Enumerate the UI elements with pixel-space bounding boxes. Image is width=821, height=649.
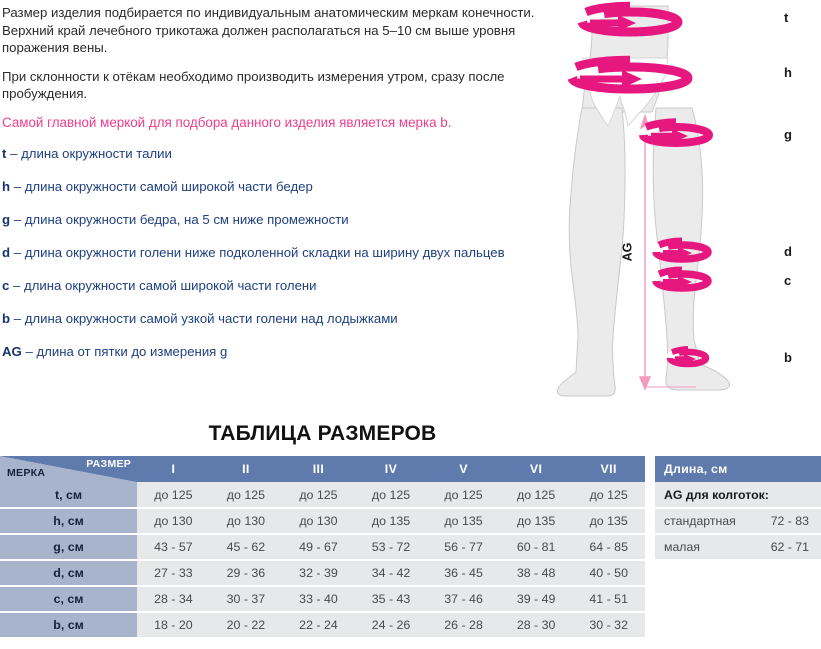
cell-c-3: 33 - 40: [282, 586, 355, 612]
length-table-header: Длина, см: [655, 456, 821, 482]
cell-t-4: до 125: [355, 482, 428, 508]
legend-text-c: – длина окружности самой широкой части г…: [13, 278, 317, 293]
cell-t-2: до 125: [210, 482, 283, 508]
cell-b-2: 20 - 22: [210, 612, 283, 638]
legend-key-b: b: [2, 311, 10, 326]
legend-item-b: b – длина окружности самой узкой части г…: [2, 310, 600, 327]
legend-key-h: h: [2, 179, 10, 194]
cell-h-1: до 130: [137, 508, 210, 534]
diagram-label-h: h: [784, 65, 792, 80]
cell-t-3: до 125: [282, 482, 355, 508]
legend-key-g: g: [2, 212, 10, 227]
legend-item-g: g – длина окружности бедра, на 5 см ниже…: [2, 211, 600, 228]
cell-c-2: 30 - 37: [210, 586, 283, 612]
diagram-label-d: d: [784, 244, 792, 259]
cell-t-7: до 125: [572, 482, 645, 508]
cell-d-1: 27 - 33: [137, 560, 210, 586]
size-table-header-row: РАЗМЕР МЕРКА I II III IV V VI VII: [0, 456, 645, 482]
row-label-h: h, см: [0, 508, 137, 534]
length-table-header-row: Длина, см: [655, 456, 821, 482]
cell-b-3: 22 - 24: [282, 612, 355, 638]
row-label-d: d, см: [0, 560, 137, 586]
cell-t-5: до 125: [427, 482, 500, 508]
legend-key-t: t: [2, 146, 6, 161]
cell-t-1: до 125: [137, 482, 210, 508]
legend-item-c: c – длина окружности самой широкой части…: [2, 277, 600, 294]
cell-c-5: 37 - 46: [427, 586, 500, 612]
cell-c-1: 28 - 34: [137, 586, 210, 612]
cell-c-7: 41 - 51: [572, 586, 645, 612]
row-label-t: t, см: [0, 482, 137, 508]
legend-text-t: – длина окружности талии: [10, 146, 172, 161]
measure-ring-b: [670, 349, 706, 364]
measure-ring-g: [643, 122, 709, 143]
table-row: малая 62 - 71: [655, 534, 821, 560]
length-value-standard: 72 - 83: [760, 508, 821, 534]
size-column-header-3: III: [282, 456, 355, 482]
cell-b-6: 28 - 30: [500, 612, 573, 638]
key-measurement-note: Самой главной меркой для подбора данного…: [2, 114, 600, 132]
cell-g-5: 56 - 77: [427, 534, 500, 560]
size-table: РАЗМЕР МЕРКА I II III IV V VI VII t, см …: [0, 456, 645, 639]
cell-b-7: 30 - 32: [572, 612, 645, 638]
leg-silhouette-svg: [556, 0, 821, 418]
legend-item-d: d – длина окружности голени ниже подколе…: [2, 244, 600, 261]
diagram-label-c: c: [784, 273, 791, 288]
measure-ring-c: [656, 270, 708, 288]
cell-g-6: 60 - 81: [500, 534, 573, 560]
cell-g-1: 43 - 57: [137, 534, 210, 560]
legend-key-ag: AG: [2, 344, 22, 359]
cell-h-5: до 135: [427, 508, 500, 534]
measure-ring-h: [572, 60, 688, 89]
length-table: Длина, см AG для колготок: стандартная 7…: [655, 456, 821, 561]
cell-g-4: 53 - 72: [355, 534, 428, 560]
cell-c-4: 35 - 43: [355, 586, 428, 612]
table-row: g, см 43 - 57 45 - 62 49 - 67 53 - 72 56…: [0, 534, 645, 560]
size-column-header-6: VI: [500, 456, 573, 482]
table-corner-cell: РАЗМЕР МЕРКА: [0, 456, 137, 482]
corner-measure-label: МЕРКА: [7, 467, 45, 479]
instructions-column: Размер изделия подбирается по индивидуал…: [0, 0, 600, 376]
length-label-standard: стандартная: [655, 508, 760, 534]
cell-h-4: до 135: [355, 508, 428, 534]
cell-g-7: 64 - 85: [572, 534, 645, 560]
cell-c-6: 39 - 49: [500, 586, 573, 612]
legend-key-c: c: [2, 278, 9, 293]
length-table-subtitle: AG для колготок:: [655, 482, 821, 508]
cell-g-3: 49 - 67: [282, 534, 355, 560]
table-row: t, см до 125 до 125 до 125 до 125 до 125…: [0, 482, 645, 508]
length-value-small: 62 - 71: [760, 534, 821, 560]
cell-b-4: 24 - 26: [355, 612, 428, 638]
row-label-c: c, см: [0, 586, 137, 612]
measure-ring-d: [656, 241, 708, 259]
leg-measurement-diagram: t h g d c b AG: [556, 0, 821, 418]
diagram-label-ag: AG: [620, 243, 634, 262]
cell-d-6: 38 - 48: [500, 560, 573, 586]
diagram-label-t: t: [784, 10, 788, 25]
cell-b-5: 26 - 28: [427, 612, 500, 638]
table-row: d, см 27 - 33 29 - 36 32 - 39 34 - 42 36…: [0, 560, 645, 586]
cell-g-2: 45 - 62: [210, 534, 283, 560]
legend-key-d: d: [2, 245, 10, 260]
size-table-title: ТАБЛИЦА РАЗМЕРОВ: [0, 422, 645, 446]
legend-text-h: – длина окружности самой широкой части б…: [14, 179, 313, 194]
size-chart-page: Размер изделия подбирается по индивидуал…: [0, 0, 821, 649]
table-row: AG для колготок:: [655, 482, 821, 508]
table-row: b, см 18 - 20 20 - 22 22 - 24 24 - 26 26…: [0, 612, 645, 638]
cell-d-3: 32 - 39: [282, 560, 355, 586]
size-column-header-1: I: [137, 456, 210, 482]
legend-text-d: – длина окружности голени ниже подколенн…: [14, 245, 505, 260]
cell-d-7: 40 - 50: [572, 560, 645, 586]
cell-d-5: 36 - 45: [427, 560, 500, 586]
cell-d-4: 34 - 42: [355, 560, 428, 586]
legend-text-ag: – длина от пятки до измерения g: [25, 344, 227, 359]
intro-paragraph-2: При склонности к отёкам необходимо произ…: [2, 68, 547, 103]
diagram-label-b: b: [784, 350, 792, 365]
legend-text-b: – длина окружности самой узкой части гол…: [14, 311, 398, 326]
cell-b-1: 18 - 20: [137, 612, 210, 638]
legend-text-g: – длина окружности бедра, на 5 см ниже п…: [14, 212, 349, 227]
table-row: стандартная 72 - 83: [655, 508, 821, 534]
row-label-b: b, см: [0, 612, 137, 638]
size-column-header-4: IV: [355, 456, 428, 482]
legend-item-t: t – длина окружности талии: [2, 145, 600, 162]
cell-h-3: до 130: [282, 508, 355, 534]
table-row: h, см до 130 до 130 до 130 до 135 до 135…: [0, 508, 645, 534]
legend-item-h: h – длина окружности самой широкой части…: [2, 178, 600, 195]
cell-h-7: до 135: [572, 508, 645, 534]
table-row: c, см 28 - 34 30 - 37 33 - 40 35 - 43 37…: [0, 586, 645, 612]
size-column-header-7: VII: [572, 456, 645, 482]
size-column-header-5: V: [427, 456, 500, 482]
row-label-g: g, см: [0, 534, 137, 560]
corner-size-label: РАЗМЕР: [86, 458, 131, 470]
size-column-header-2: II: [210, 456, 283, 482]
length-label-small: малая: [655, 534, 760, 560]
cell-h-6: до 135: [500, 508, 573, 534]
cell-t-6: до 125: [500, 482, 573, 508]
info-section: Размер изделия подбирается по индивидуал…: [0, 0, 821, 418]
cell-d-2: 29 - 36: [210, 560, 283, 586]
diagram-label-g: g: [784, 127, 792, 142]
legend-item-ag: AG – длина от пятки до измерения g: [2, 343, 600, 360]
intro-paragraph-1: Размер изделия подбирается по индивидуал…: [2, 4, 547, 57]
cell-h-2: до 130: [210, 508, 283, 534]
